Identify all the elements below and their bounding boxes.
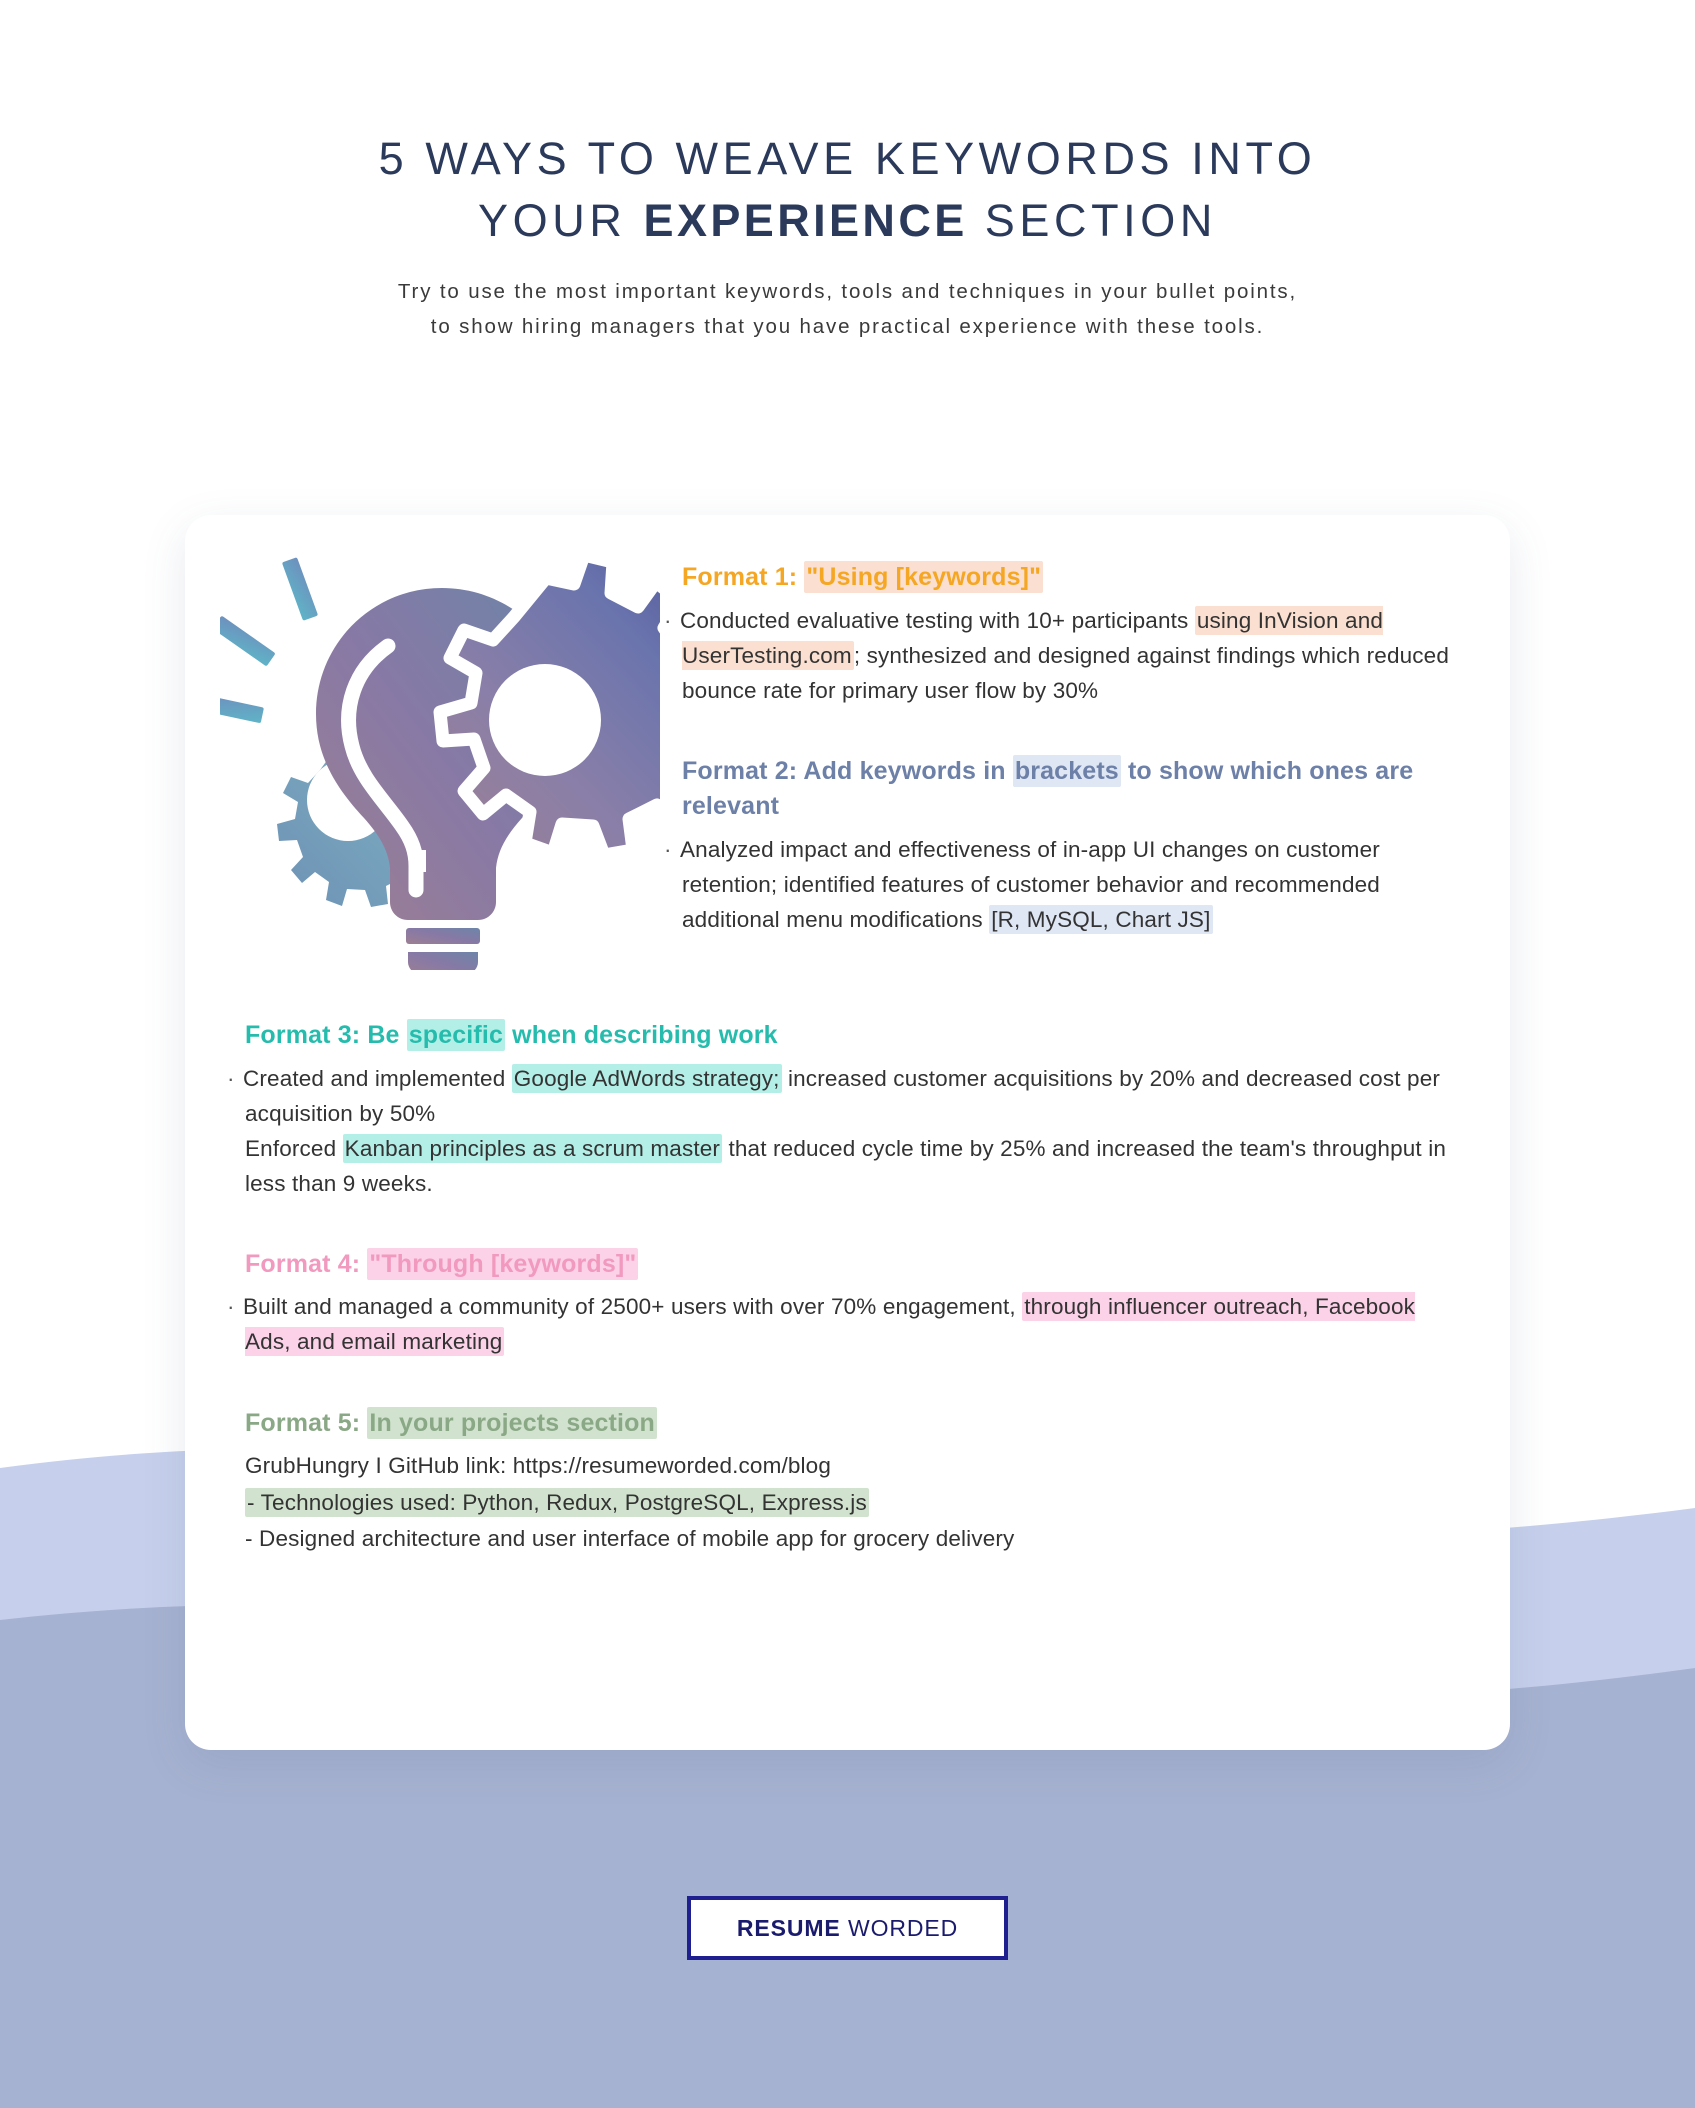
format-1-heading-highlight: "Using [keywords]" [804, 561, 1043, 593]
resume-worded-logo[interactable]: RESUME WORDED [687, 1896, 1008, 1960]
logo-regular-word: WORDED [841, 1915, 958, 1941]
subtitle-line-1: Try to use the most important keywords, … [398, 280, 1297, 303]
format-2-heading: Format 2: Add keywords in brackets to sh… [682, 754, 1452, 825]
format-2-keyword-highlight: [R, MySQL, Chart JS] [989, 905, 1212, 934]
bullet-marker: · [227, 1289, 243, 1324]
title-line-2-pre: YOUR [478, 195, 644, 246]
format-5-heading-plain: Format 5: [245, 1409, 367, 1437]
bullet-marker: · [227, 1061, 243, 1096]
format-4-heading-plain: Format 4: [245, 1250, 367, 1278]
bullet-marker: · [664, 603, 680, 638]
format-1-block: Format 1: "Using [keywords]" ·Conducted … [682, 560, 1452, 708]
format-4-block: Format 4: "Through [keywords]" ·Built an… [245, 1247, 1450, 1360]
format-3-body: ·Created and implemented Google AdWords … [245, 1061, 1450, 1201]
title-line-1: 5 WAYS TO WEAVE KEYWORDS INTO [379, 133, 1317, 184]
format-5-line-1: GrubHungry I GitHub link: https://resume… [245, 1453, 831, 1478]
format-3-block: Format 3: Be specific when describing wo… [245, 1018, 1450, 1201]
format-3-text-3: Enforced [245, 1136, 343, 1161]
format-1-heading: Format 1: "Using [keywords]" [682, 560, 1452, 596]
card-top-area: Format 1: "Using [keywords]" ·Conducted … [185, 515, 1510, 970]
format-3-heading-tail: when describing work [505, 1021, 778, 1049]
format-2-heading-plain: Format 2: Add keywords in [682, 757, 1013, 785]
page-title: 5 WAYS TO WEAVE KEYWORDS INTO YOUR EXPER… [0, 128, 1695, 252]
bullet-marker: · [664, 832, 680, 867]
format-5-heading: Format 5: In your projects section [245, 1406, 1450, 1442]
bulb-base [406, 928, 480, 970]
format-5-heading-highlight: In your projects section [367, 1407, 657, 1439]
card-lower-area: Format 3: Be specific when describing wo… [185, 970, 1510, 1557]
page-header: 5 WAYS TO WEAVE KEYWORDS INTO YOUR EXPER… [0, 0, 1695, 345]
format-2-block: Format 2: Add keywords in brackets to sh… [682, 754, 1452, 937]
card-top-right-column: Format 1: "Using [keywords]" ·Conducted … [660, 540, 1452, 970]
content-card: Format 1: "Using [keywords]" ·Conducted … [185, 515, 1510, 1750]
format-1-heading-plain: Format 1: [682, 563, 804, 591]
format-4-text-1: Built and managed a community of 2500+ u… [243, 1294, 1022, 1319]
format-4-heading-highlight: "Through [keywords]" [367, 1248, 638, 1280]
format-4-body: ·Built and managed a community of 2500+ … [245, 1289, 1450, 1359]
format-5-body: GrubHungry I GitHub link: https://resume… [245, 1448, 1450, 1557]
format-3-heading-highlight: specific [407, 1019, 505, 1051]
format-5-line-2-highlight: - Technologies used: Python, Redux, Post… [245, 1488, 869, 1517]
title-line-2-post: SECTION [968, 195, 1217, 246]
format-3-heading-plain: Format 3: Be [245, 1021, 407, 1049]
lightbulb-gears-icon [220, 540, 660, 970]
format-3-keyword-highlight-1: Google AdWords strategy; [512, 1064, 782, 1093]
format-2-heading-highlight: brackets [1013, 755, 1121, 787]
format-1-text-1: Conducted evaluative testing with 10+ pa… [680, 608, 1195, 633]
format-3-keyword-highlight-2: Kanban principles as a scrum master [343, 1134, 722, 1163]
logo-bold-word: RESUME [737, 1915, 841, 1941]
ray-lines-left [220, 557, 318, 723]
format-4-heading: Format 4: "Through [keywords]" [245, 1247, 1450, 1283]
format-3-text-1: Created and implemented [243, 1066, 512, 1091]
format-5-line-3: - Designed architecture and user interfa… [245, 1526, 1014, 1551]
footer-logo-wrapper: RESUME WORDED [0, 1896, 1695, 1960]
title-emphasis-experience: EXPERIENCE [644, 195, 968, 246]
format-1-body: ·Conducted evaluative testing with 10+ p… [682, 603, 1452, 708]
page-subtitle: Try to use the most important keywords, … [0, 274, 1695, 345]
format-5-block: Format 5: In your projects section GrubH… [245, 1406, 1450, 1558]
subtitle-line-2: to show hiring managers that you have pr… [431, 315, 1264, 338]
format-3-heading: Format 3: Be specific when describing wo… [245, 1018, 1450, 1054]
format-2-body: ·Analyzed impact and effectiveness of in… [682, 832, 1452, 937]
